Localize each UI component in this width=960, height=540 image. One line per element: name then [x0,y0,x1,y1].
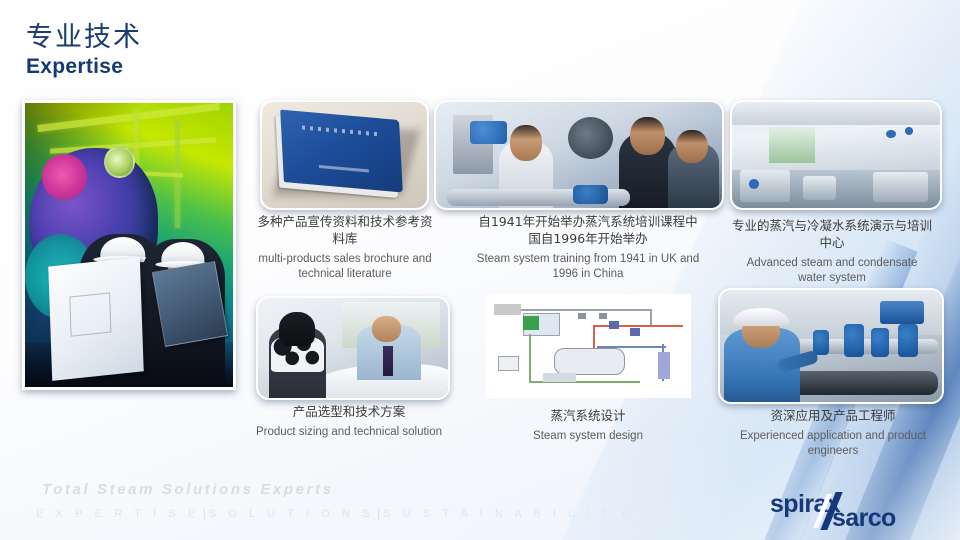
blue-valve-1 [813,330,829,355]
clipboard-icon [152,261,229,347]
meeting-consultant-tie [383,346,393,376]
logo-word-sarco: sarco [832,504,896,533]
blue-valve-3 [871,328,889,357]
schematic-valve-2 [599,313,607,319]
thumbnail-training-centre [730,100,942,210]
caption-english: Steam system training from 1941 in UK an… [476,252,700,283]
engineer-scene [720,290,942,402]
caption-chinese: 自1941年开始举办蒸汽系统培训课程中国自1996年开始举办 [476,214,700,248]
thumbnail-steam-training [434,100,724,210]
blue-valve-2 [844,324,864,358]
schematic-feed-line [529,334,531,382]
thumbnail-system-schematic [486,294,691,398]
caption-chinese: 产品选型和技术方案 [252,404,446,421]
footer-pillars: E X P E R T I S E | S O L U T I O N S | … [36,508,632,520]
schematic-tank-2 [498,356,518,370]
schematic-condensate-line [593,325,683,327]
footer-tagline: Total Steam Solutions Experts [42,481,334,498]
schematic-steam-main [521,309,652,311]
schematic-scene [486,294,691,398]
footer-separator-2: | [374,508,383,520]
meeting-client-hair [279,312,315,346]
meeting-consultant-head [372,316,401,342]
blue-valve-4 [898,324,918,358]
centre-window [769,127,815,163]
page-title: 专业技术 Expertise [26,22,142,78]
footer-pillar-expertise: E X P E R T I S E [36,508,200,520]
schematic-condensate-drop [593,325,595,348]
caption-english: Product sizing and technical solution [252,425,446,441]
schematic-boiler [554,348,626,375]
training-vessel [568,117,614,159]
schematic-trap-1 [609,321,619,329]
schematic-trap-2 [630,328,640,335]
footer-pillar-solutions: S O L U T I O N S [209,508,374,520]
centre-demo-rig-3 [873,172,927,202]
caption-chinese: 多种产品宣传资料和技术参考资料库 [252,214,438,248]
page-title-english: Expertise [26,55,142,78]
blue-book-icon [280,109,402,192]
hero-photo-engineers [22,100,236,390]
training-blue-instrument [470,121,507,144]
caption-english: Steam system design [482,429,694,445]
book-scene [262,102,427,208]
trainee-head [630,117,664,155]
training-scene [436,102,722,208]
footer-separator-1: | [200,508,209,520]
schematic-riser [650,309,652,326]
schematic-green-unit [523,316,539,331]
caption-chinese: 专业的蒸汽与冷凝水系统演示与培训中心 [732,218,932,252]
schematic-column [658,352,670,379]
caption-chinese: 蒸汽系统设计 [482,408,694,425]
thumbnail-application-engineer [718,288,944,404]
slide-canvas: 专业技术 Expertise [0,0,960,540]
centre-demo-rig-1 [740,170,790,202]
caption-system-design: 蒸汽系统设计 Steam system design [482,408,694,444]
caption-chinese: 资深应用及产品工程师 [730,408,936,425]
trainee-head [510,125,541,161]
thumbnail-consultation-meeting [256,296,450,400]
centre-ceiling [732,102,940,125]
footer-pillar-sustainability: S U S T A I N A B I L I T Y [383,508,632,520]
hero-gauge-dial [104,146,135,178]
caption-english: Experienced application and product engi… [730,429,936,460]
caption-english: Advanced steam and condensate water syst… [732,256,932,287]
trainee-head [676,130,707,164]
centre-valve-marker-2 [886,130,896,138]
blueprint-drawing [48,257,143,380]
centre-scene [732,102,940,208]
schematic-tank [494,304,521,314]
hero-pink-highlight [42,154,88,199]
schematic-pump [543,373,576,382]
centre-valve-marker-3 [905,127,913,134]
centre-demo-rig-2 [803,176,836,199]
actuator-icon [880,301,924,323]
caption-steam-training: 自1941年开始举办蒸汽系统培训课程中国自1996年开始举办 Steam sys… [476,214,700,283]
caption-english: multi-products sales brochure and techni… [252,252,438,283]
training-valve-icon [573,185,607,204]
page-title-chinese: 专业技术 [26,22,142,53]
thumbnail-brochure-library [260,100,429,210]
spirax-sarco-logo: spirax sarco [770,490,945,532]
meeting-scene [258,298,448,398]
centre-valve-marker-1 [749,179,759,189]
caption-application-engineers: 资深应用及产品工程师 Experienced application and p… [730,408,936,460]
caption-training-centre: 专业的蒸汽与冷凝水系统演示与培训中心 Advanced steam and co… [732,218,932,287]
schematic-valve-1 [578,313,586,319]
caption-product-sizing: 产品选型和技术方案 Product sizing and technical s… [252,404,446,440]
caption-brochure-library: 多种产品宣传资料和技术参考资料库 multi-products sales br… [252,214,438,283]
